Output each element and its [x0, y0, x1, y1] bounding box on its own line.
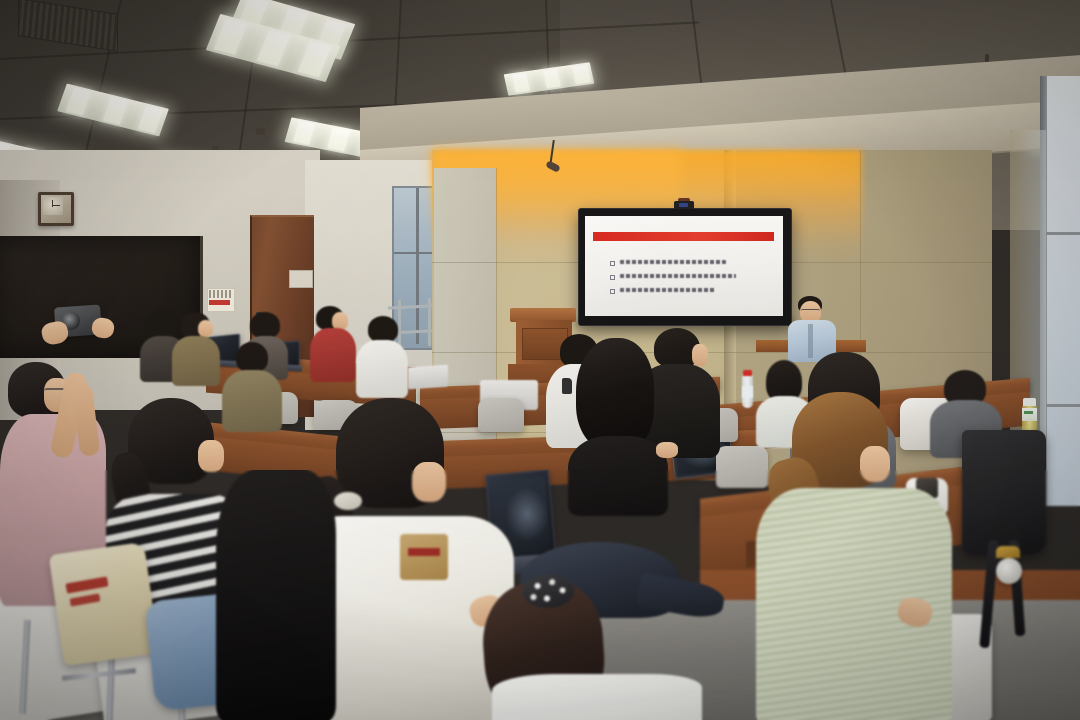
bottle-label-stripe — [1024, 411, 1033, 414]
wall-sign-text — [209, 290, 231, 298]
sprinkler-head — [256, 128, 265, 135]
window-mullion — [1046, 232, 1080, 235]
bottle-label — [742, 386, 753, 398]
slide-bullet-marker — [610, 275, 615, 280]
torso-dark — [568, 436, 668, 516]
face — [198, 320, 213, 337]
torso-white-top — [492, 674, 702, 720]
slide-red-accent-bar — [593, 232, 774, 241]
neck — [198, 440, 224, 472]
glasses-icon — [801, 309, 820, 314]
person-tablet-holder — [568, 338, 664, 508]
person-back-left-2 — [174, 312, 218, 384]
camera-lens-icon — [679, 203, 688, 207]
face-profile — [692, 344, 708, 366]
right-window — [1046, 76, 1080, 506]
slide-bullet-marker — [610, 261, 615, 266]
safety-rail-post — [428, 298, 431, 346]
neck — [412, 462, 446, 502]
photo-scene: Interior photograph of a seminar / train… — [0, 0, 1080, 720]
slide-text-line-2 — [620, 274, 736, 278]
neck — [860, 446, 890, 482]
hand — [656, 442, 678, 458]
hair — [250, 312, 280, 338]
bag-strap-tan — [400, 534, 448, 580]
window-mullion — [416, 188, 419, 344]
slide-text-line-3 — [620, 288, 715, 292]
person-navy-cap — [488, 546, 718, 720]
person-white-shirt — [356, 316, 406, 394]
bottle-label-green — [1022, 408, 1037, 421]
display-screen[interactable] — [585, 216, 783, 316]
hair-tie — [334, 492, 362, 510]
wall-sign-red-text — [209, 300, 230, 305]
person-red-top — [310, 306, 354, 380]
bag-keychain-charm — [996, 558, 1022, 584]
bottle-cap-white — [1023, 398, 1036, 406]
screen-glare — [585, 216, 783, 316]
clock-face — [43, 197, 63, 215]
beaded-hair-tie — [522, 574, 574, 608]
black-shoulder-bag[interactable] — [962, 430, 1046, 554]
slide-text-line-1 — [620, 260, 726, 264]
hair — [368, 316, 398, 342]
laptop-white-lid[interactable] — [408, 365, 448, 390]
door-sign — [289, 270, 313, 288]
window-mullion — [1046, 404, 1080, 407]
person-green-pinstripe-woman — [756, 392, 946, 720]
person-dark-silhouette — [216, 470, 336, 720]
bottle-cap-red — [743, 370, 752, 376]
cream-tote-bag[interactable] — [49, 542, 160, 666]
bag-red-logo — [408, 548, 440, 556]
hair-long-wavy — [576, 338, 654, 450]
slide-bullet-marker — [610, 289, 615, 294]
torso-white — [356, 340, 408, 398]
torso-red — [310, 328, 356, 382]
hair — [236, 342, 268, 372]
torso — [172, 336, 220, 386]
keychain-ring — [996, 546, 1020, 558]
clock-hand-minute — [52, 205, 60, 206]
